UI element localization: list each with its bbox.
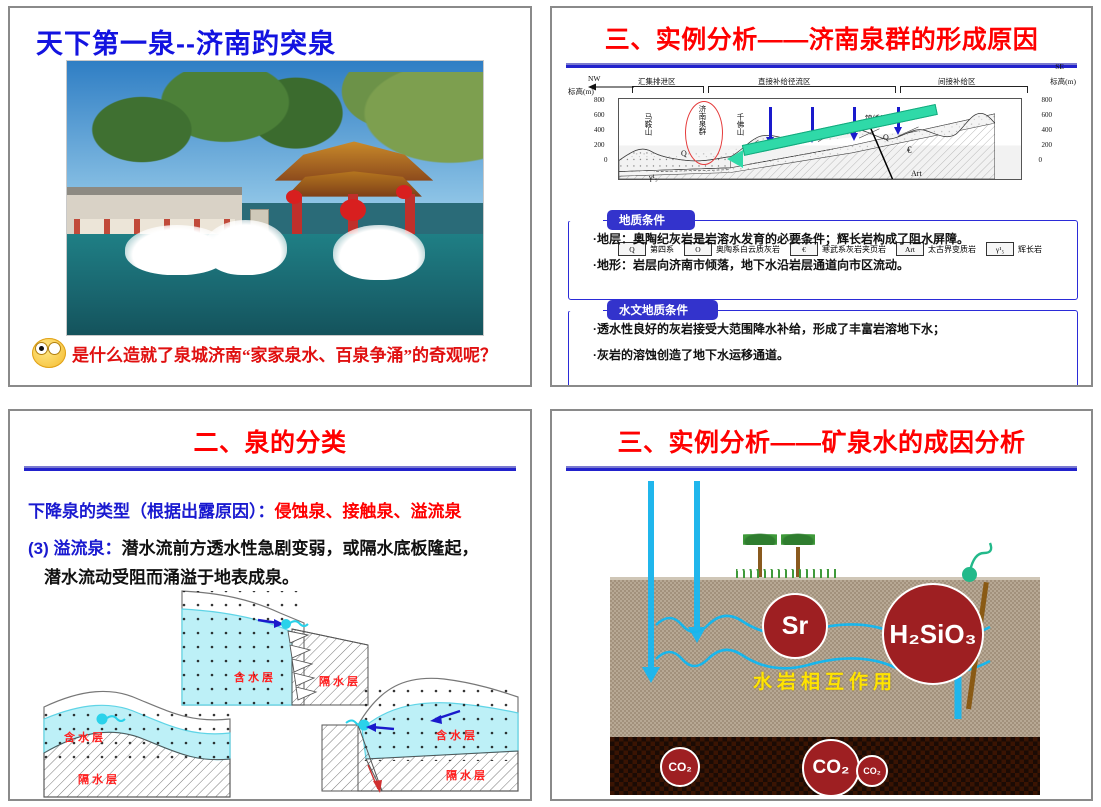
- slide-deck: 天下第一泉--济南趵突泉: [0, 0, 1101, 807]
- spring-types-label: 下降泉的类型（根据出露原因）：: [28, 502, 275, 521]
- spring-spout-3: [333, 225, 425, 280]
- lantern-left: [286, 190, 302, 204]
- geologic-cross-section: NW 标高(m) SE 标高(m) 汇集排泄区 直接补给径流区 间接补给区 80…: [566, 64, 1078, 184]
- zone-bar-indirect: [900, 86, 1028, 94]
- tree-canopy-1: [743, 533, 777, 545]
- slide-3[interactable]: 二、泉的分类 下降泉的类型（根据出露原因）：侵蚀泉、接触泉、溢流泉 (3) 溢流…: [8, 409, 532, 801]
- unit-mark-cambrian: €: [907, 145, 912, 155]
- unit-mark-gabbro: γ¹₅: [649, 173, 658, 182]
- zone-label-direct: 直接补给径流区: [758, 76, 811, 87]
- label-aquitard-left: 隔水层: [78, 772, 120, 786]
- tick-left-400: 400: [594, 126, 605, 134]
- feature-qianfoshan: 千佛山: [735, 113, 746, 136]
- mineral-bubble-h2sio3: H₂SiO₃: [882, 583, 984, 685]
- unit-mark-Q-right: Q: [883, 133, 889, 142]
- overflow-spring-def-line1: (3) 溢流泉：潜水流前方透水性急剧变弱，或隔水底板隆起，: [28, 534, 530, 559]
- geologic-bullet-2: ·地形：岩层向济南市倾落，地下水沿岩层通道向市区流动。: [593, 256, 1077, 273]
- zone-label-indirect: 间接补给区: [938, 76, 976, 87]
- recharge-arrow-stem-1: [769, 107, 772, 139]
- slide-4-title: 三、实例分析——矿泉水的成因分析: [552, 423, 1091, 459]
- co2-bubble-small: CO₂: [660, 747, 700, 787]
- water-rock-interaction-label: 水岩相互作用: [753, 667, 897, 694]
- regional-flow-arrow: [588, 82, 636, 92]
- question-text: 是什么造就了泉城济南“家家泉水、百泉争涌”的奇观呢？: [72, 341, 497, 366]
- tick-left-0: 0: [604, 156, 608, 164]
- slide-2-title: 三、实例分析——济南泉群的形成原因: [552, 20, 1091, 56]
- geologic-bullet-1: ·地层：奥陶纪灰岩是岩溶水发育的必要条件；辉长岩构成了阻水屏障。: [593, 230, 1077, 247]
- diagram-overflow-left: 含水层 隔水层: [42, 683, 232, 801]
- overflow-spring-text-a: 潜水流前方透水性急剧变弱，或隔水底板隆起，: [122, 539, 479, 558]
- tick-right-0: 0: [1039, 156, 1043, 164]
- geologic-conditions-box: 地质条件 ·地层：奥陶纪灰岩是岩溶水发育的必要条件；辉长岩构成了阻水屏障。 ·地…: [568, 220, 1078, 300]
- slide-1[interactable]: 天下第一泉--济南趵突泉: [8, 6, 532, 387]
- co2-bubble-large: CO₂: [802, 739, 860, 797]
- mineral-bubble-sr: Sr: [762, 593, 828, 659]
- tick-right-400: 400: [1042, 126, 1053, 134]
- diagram-overflow-right-svg: 含水层 隔水层: [320, 673, 520, 801]
- tick-left-800: 800: [594, 96, 605, 104]
- mineral-water-genesis-diagram: 水岩相互作用 Sr H₂SiO₃ CO₂ CO₂ CO₂: [610, 489, 1040, 789]
- surprised-face-icon: [32, 338, 66, 368]
- unit-mark-Art: Art: [911, 169, 922, 178]
- feature-maanshan: 马鞍山: [643, 113, 654, 136]
- tick-left-200: 200: [594, 141, 605, 149]
- diagram-overflow-right: 含水层 隔水层: [320, 673, 520, 801]
- slide-4-divider: [566, 466, 1077, 471]
- unit-mark-Q-left: Q: [681, 149, 687, 158]
- geologic-conditions-tag: 地质条件: [607, 210, 695, 230]
- overflow-spring-def-line2: 潜水流动受阻而涌溢于地表成泉。: [44, 563, 530, 588]
- label-aquifer-top: 含水层: [233, 670, 276, 684]
- overflow-spring-label: (3) 溢流泉：: [28, 539, 122, 558]
- tick-right-600: 600: [1042, 111, 1053, 119]
- hydro-bullet-1: ·透水性良好的灰岩接受大范围降水补给，形成了丰富岩溶地下水；: [593, 320, 1077, 337]
- tick-right-800: 800: [1042, 96, 1053, 104]
- xsec-se-label: SE: [1055, 62, 1064, 71]
- xsec-right-axis-label: 标高(m): [1050, 76, 1076, 87]
- co2-bubble-tiny: CO₂: [856, 755, 888, 787]
- zone-label-discharge: 汇集排泄区: [638, 76, 676, 87]
- hydro-bullet-2: ·灰岩的溶蚀创造了地下水运移通道。: [593, 346, 1077, 363]
- slide-3-divider: [24, 466, 516, 471]
- hydrogeologic-conditions-tag: 水文地质条件: [607, 300, 718, 320]
- label-aquifer-left: 含水层: [63, 730, 106, 744]
- hydrogeologic-conditions-box: 水文地质条件 ·透水性良好的灰岩接受大范围降水补给，形成了丰富岩溶地下水； ·灰…: [568, 310, 1078, 387]
- tick-left-600: 600: [594, 111, 605, 119]
- groundwater-flow-arrowhead: [727, 150, 743, 168]
- tree-canopy-2: [781, 533, 815, 545]
- spring-spout-2: [204, 220, 287, 275]
- slide-4[interactable]: 三、实例分析——矿泉水的成因分析 水岩相互作用: [550, 409, 1093, 801]
- baotu-spring-photo: [66, 60, 484, 336]
- spring-types-values: 侵蚀泉、接触泉、溢流泉: [275, 502, 462, 521]
- diagram-overflow-left-svg: 含水层 隔水层: [42, 683, 232, 801]
- slide-3-title: 二、泉的分类: [10, 423, 530, 459]
- lantern-center: [340, 199, 366, 221]
- zone-bar-direct: [708, 86, 896, 94]
- label-aquifer-right: 含水层: [435, 728, 478, 742]
- recharge-arrow-head-3: [850, 133, 858, 141]
- slide-2[interactable]: 三、实例分析——济南泉群的形成原因 NW 标高(m) SE 标高(m) 汇集排泄…: [550, 6, 1093, 387]
- label-aquitard-right: 隔水层: [446, 768, 488, 782]
- tick-right-200: 200: [1042, 141, 1053, 149]
- xsec-frame: Q O Q € Art γ¹₅ 马鞍山 济南泉群 千佛山 锦绣川: [618, 98, 1022, 180]
- slide-1-title: 天下第一泉--济南趵突泉: [36, 22, 530, 61]
- well-curl-icon: [962, 541, 996, 573]
- spring-types-line: 下降泉的类型（根据出露原因）：侵蚀泉、接触泉、溢流泉: [28, 497, 530, 522]
- question-line: 是什么造就了泉城济南“家家泉水、百泉争涌”的奇观呢？: [32, 338, 497, 368]
- zone-bar-discharge: [632, 86, 704, 94]
- grass-tufts: [736, 569, 836, 578]
- spring-group-highlight: [685, 101, 723, 165]
- recharge-arrow-head-4: [894, 127, 902, 135]
